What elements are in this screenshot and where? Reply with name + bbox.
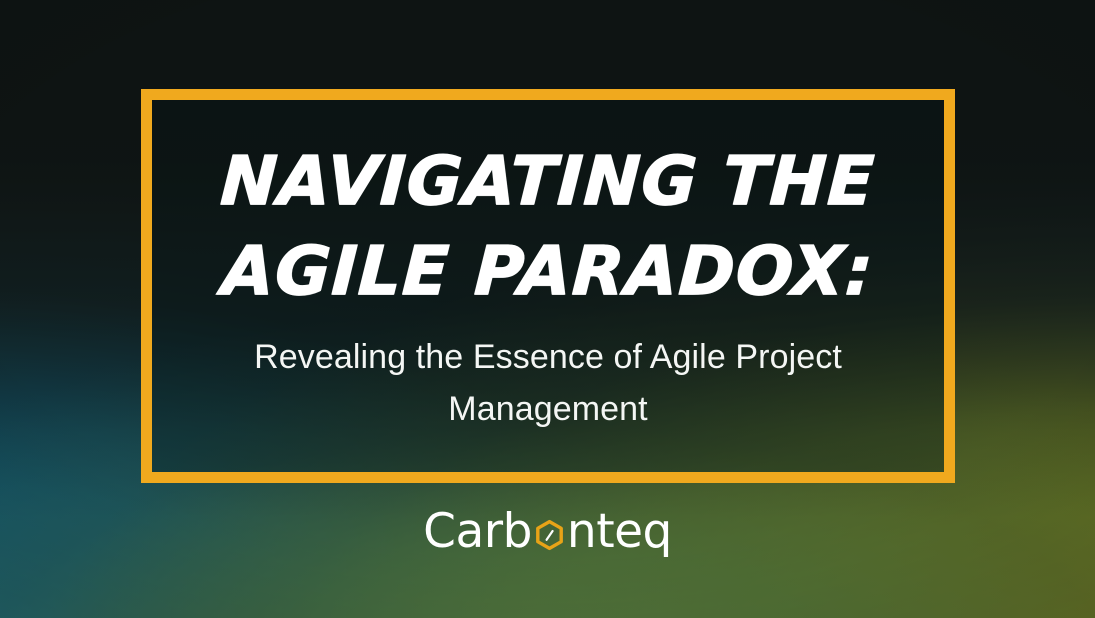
brand-logo-text-after: nteq [567, 508, 672, 555]
title-frame-border: NAVIGATING THE AGILE PARADOX: Revealing … [141, 89, 955, 483]
slide-title-line-1: NAVIGATING THE [149, 133, 946, 229]
brand-logo-wordmark: Carb nteq [423, 508, 672, 555]
slide-subtitle: Revealing the Essence of Agile Project M… [198, 331, 898, 435]
brand-logo-text-before: Carb [423, 508, 532, 555]
brand-logo: Carb nteq [0, 508, 1095, 555]
hexagon-icon [533, 519, 566, 552]
title-block: NAVIGATING THE AGILE PARADOX: [152, 133, 944, 319]
presentation-slide: NAVIGATING THE AGILE PARADOX: Revealing … [0, 0, 1095, 618]
slide-title-line-2: AGILE PARADOX: [149, 223, 946, 319]
